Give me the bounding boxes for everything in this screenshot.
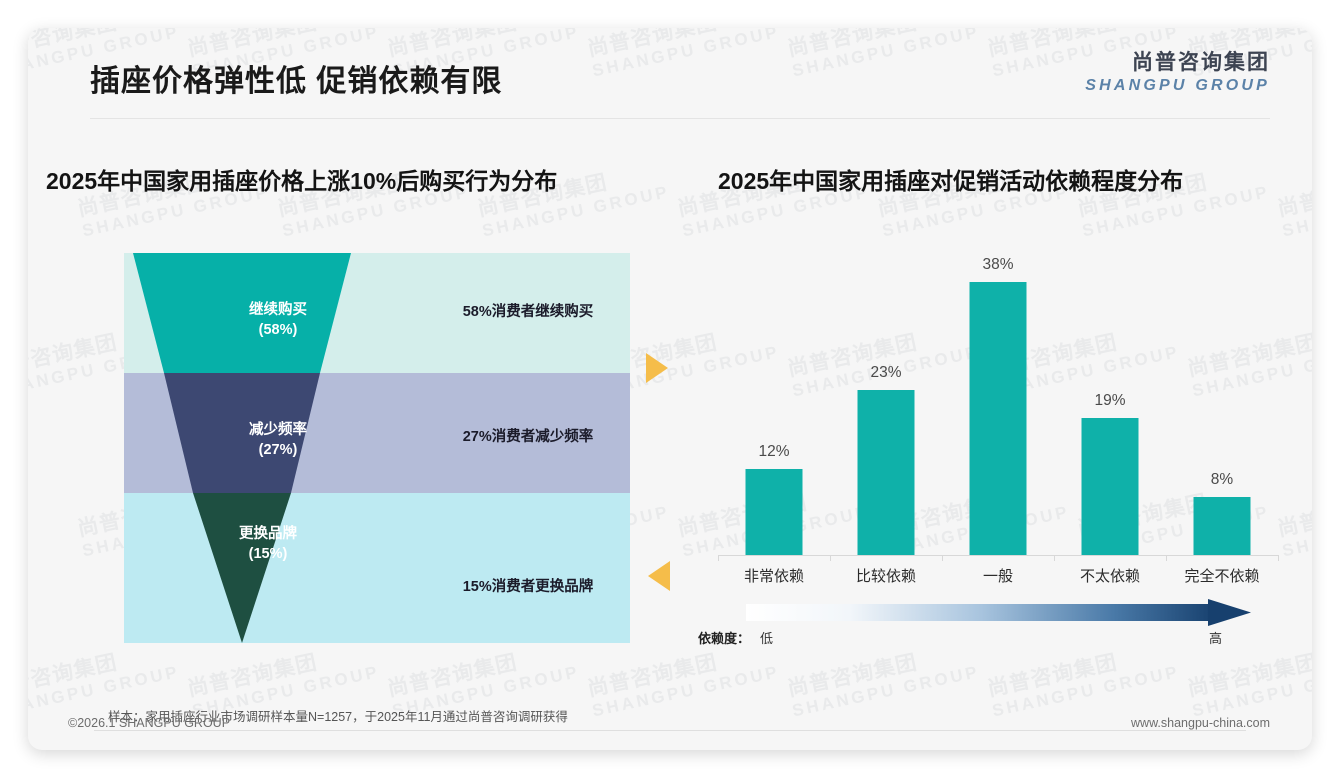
- bar-value-label: 23%: [870, 364, 901, 382]
- funnel-stage-2-value: (27%): [208, 441, 348, 461]
- bar-group[interactable]: 23%比较依赖: [830, 253, 942, 555]
- bar-rect[interactable]: [970, 282, 1027, 555]
- legend-high-label: 高: [1209, 628, 1222, 647]
- axis-tick: [718, 555, 719, 561]
- bar-category-label: 完全不依赖: [1184, 565, 1259, 586]
- logo-english-text: SHANGPU GROUP: [1085, 77, 1270, 95]
- bar-value-label: 12%: [758, 443, 789, 461]
- axis-tick: [942, 555, 943, 561]
- axis-tick: [830, 555, 831, 561]
- bar-rect[interactable]: [1082, 418, 1139, 555]
- bar-chart: 12%非常依赖23%比较依赖38%一般19%不太依赖8%完全不依赖: [688, 253, 1288, 593]
- triangle-left-icon: [648, 561, 670, 591]
- funnel-stage-1-label: 继续购买: [208, 301, 348, 321]
- bar-category-label: 一般: [983, 565, 1013, 586]
- bar-category-label: 比较依赖: [856, 565, 916, 586]
- dependency-gradient-legend: 依赖度： 低 高: [688, 598, 1288, 658]
- bar-category-label: 不太依赖: [1080, 565, 1140, 586]
- legend-low-label: 低: [760, 628, 773, 647]
- copyright-text: ©2026.1 SHANGPU GROUP: [68, 716, 230, 730]
- slide-footer: ©2026.1 SHANGPU GROUP www.shangpu-china.…: [28, 712, 1312, 740]
- funnel-stage-2-label: 减少频率: [208, 421, 348, 441]
- funnel-stage-1-value: (58%): [208, 321, 348, 341]
- brand-logo: 尚普咨询集团 SHANGPU GROUP: [1085, 46, 1270, 95]
- bar-chart-axis: [718, 555, 1278, 556]
- funnel-stage-3-value: (15%): [208, 545, 328, 565]
- funnel-stage-3-label: 更换品牌: [208, 525, 328, 545]
- funnel-callout-1: 58%消费者继续购买: [428, 300, 628, 321]
- bar-group[interactable]: 19%不太依赖: [1054, 253, 1166, 555]
- bar-group[interactable]: 8%完全不依赖: [1166, 253, 1278, 555]
- funnel-stage-2-text: 减少频率 (27%): [208, 421, 348, 460]
- bar-rect[interactable]: [1194, 497, 1251, 555]
- bar-category-label: 非常依赖: [744, 565, 804, 586]
- logo-chinese-text: 尚普咨询集团: [1085, 46, 1270, 76]
- bar-value-label: 38%: [982, 256, 1013, 274]
- website-link[interactable]: www.shangpu-china.com: [1131, 716, 1270, 730]
- gradient-arrow-icon: [746, 598, 1256, 628]
- page-title: 插座价格弹性低 促销依赖有限: [90, 56, 502, 100]
- axis-tick: [1278, 555, 1279, 561]
- header-divider: [90, 118, 1270, 119]
- watermark-text: 尚普咨询集团SHANGPU GROUP: [1276, 159, 1312, 241]
- triangle-right-icon: [646, 353, 668, 383]
- bar-plot-area: 12%非常依赖23%比较依赖38%一般19%不太依赖8%完全不依赖: [718, 253, 1278, 555]
- bar-rect[interactable]: [858, 390, 915, 555]
- funnel-stage-1-text: 继续购买 (58%): [208, 301, 348, 340]
- legend-title: 依赖度：: [698, 628, 750, 647]
- bar-group[interactable]: 38%一般: [942, 253, 1054, 555]
- funnel-callout-3: 15%消费者更换品牌: [428, 575, 628, 596]
- slide-card: 尚普咨询集团SHANGPU GROUP尚普咨询集团SHANGPU GROUP尚普…: [28, 28, 1312, 750]
- left-chart-title: 2025年中国家用插座价格上涨10%后购买行为分布: [46, 162, 557, 196]
- axis-tick: [1166, 555, 1167, 561]
- slide-header: 插座价格弹性低 促销依赖有限 尚普咨询集团 SHANGPU GROUP: [28, 28, 1312, 122]
- bar-value-label: 8%: [1211, 471, 1233, 489]
- right-chart-title: 2025年中国家用插座对促销活动依赖程度分布: [718, 162, 1183, 196]
- bar-rect[interactable]: [746, 469, 803, 555]
- funnel-stage-3-text: 更换品牌 (15%): [208, 525, 328, 564]
- funnel-callout-2: 27%消费者减少频率: [428, 425, 628, 446]
- bar-group[interactable]: 12%非常依赖: [718, 253, 830, 555]
- bar-value-label: 19%: [1094, 392, 1125, 410]
- funnel-chart: 继续购买 (58%) 减少频率 (27%) 更换品牌 (15%) 58%消费者继…: [88, 253, 668, 643]
- axis-tick: [1054, 555, 1055, 561]
